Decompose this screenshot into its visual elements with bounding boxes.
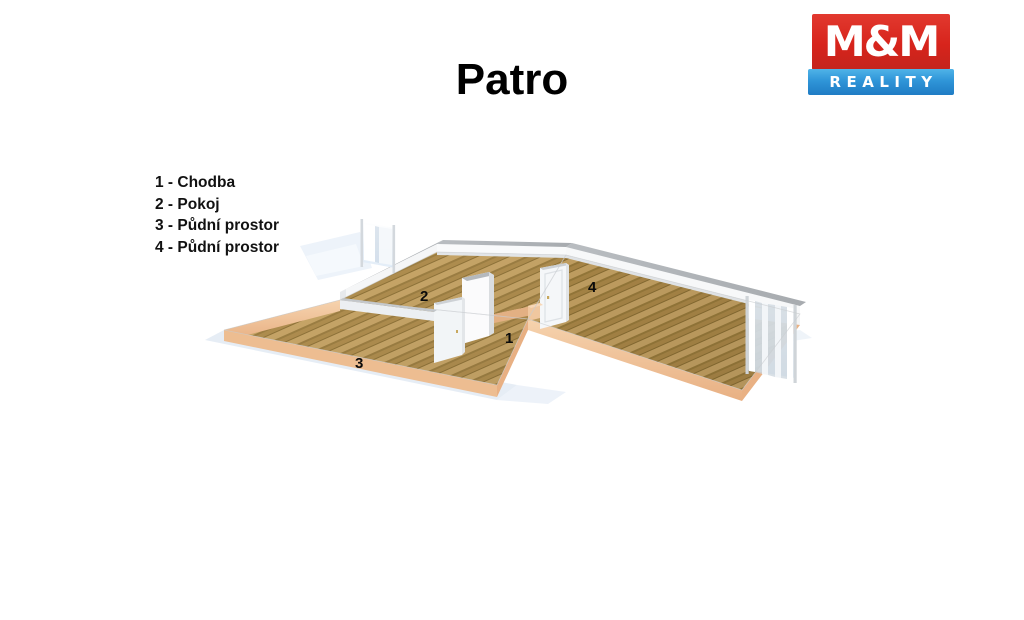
room-label-1: 1 (505, 331, 513, 346)
floorplan-page: Patro 1 - Chodba 2 - Pokoj 3 - Půdní pro… (0, 0, 1024, 620)
floorplan-3d-render (0, 0, 1024, 620)
interior-wall-center (462, 272, 494, 344)
room-label-2: 2 (420, 289, 428, 304)
window-right-gable (746, 296, 797, 383)
door-opening-room-4 (540, 263, 569, 329)
door-1-leaf-edge (462, 297, 465, 355)
room-label-4: 4 (588, 280, 596, 295)
center-wall-side (489, 272, 494, 336)
center-wall-face (462, 272, 489, 344)
door-4-leaf-edge (566, 263, 569, 322)
room-label-3: 3 (355, 356, 363, 371)
